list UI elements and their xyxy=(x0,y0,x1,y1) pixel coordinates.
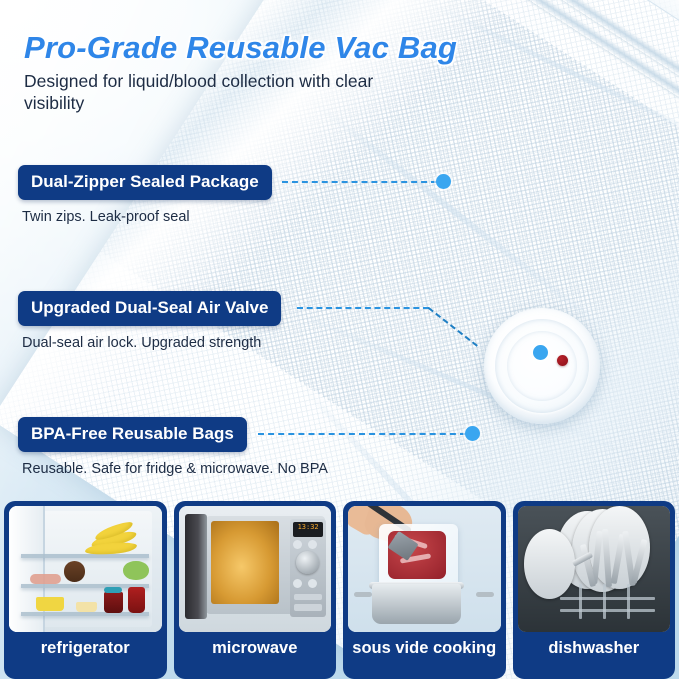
connector-endpoint-dot-1 xyxy=(436,174,451,189)
callout-bpa-free-reusable-bags[interactable]: BPA-Free Reusable Bags Reusable. Safe fo… xyxy=(18,417,328,477)
use-case-label-microwave: microwave xyxy=(212,639,297,658)
use-case-label-dishwasher: dishwasher xyxy=(548,639,639,658)
callout-badge-3: BPA-Free Reusable Bags xyxy=(18,417,247,452)
microwave-photo: 13:32 xyxy=(179,506,332,632)
connector-endpoint-dot-3 xyxy=(465,426,480,441)
use-case-label-sous-vide-cooking: sous vide cooking xyxy=(352,639,496,658)
infographic-canvas: Pro-Grade Reusable Vac Bag Designed for … xyxy=(0,0,679,679)
page-subtitle: Designed for liquid/blood collection wit… xyxy=(24,70,404,115)
use-case-card-sous-vide-cooking[interactable]: sous vide cooking xyxy=(343,501,506,679)
use-case-card-dishwasher[interactable]: dishwasher xyxy=(513,501,676,679)
callout-badge-2: Upgraded Dual-Seal Air Valve xyxy=(18,291,281,326)
use-case-label-refrigerator: refrigerator xyxy=(41,639,130,658)
callout-badge-1: Dual-Zipper Sealed Package xyxy=(18,165,272,200)
callout-description-2: Dual-seal air lock. Upgraded strength xyxy=(22,335,281,351)
valve-ring-inner xyxy=(507,331,577,401)
air-valve xyxy=(484,308,600,424)
callout-description-3: Reusable. Safe for fridge & microwave. N… xyxy=(22,461,328,477)
valve-red-marker-dot xyxy=(557,355,568,366)
microwave-display: 13:32 xyxy=(293,522,324,537)
sous-vide-photo xyxy=(348,506,501,632)
callout-description-1: Twin zips. Leak-proof seal xyxy=(22,209,272,225)
dishwasher-photo xyxy=(518,506,671,632)
connector-endpoint-dot-2 xyxy=(533,345,548,360)
connector-line-1 xyxy=(282,181,437,183)
callout-upgraded-dual-seal-air-valve[interactable]: Upgraded Dual-Seal Air Valve Dual-seal a… xyxy=(18,291,281,351)
use-case-thumbnail-row: refrigerator 13:32 xyxy=(0,501,679,679)
microwave-display-time: 13:32 xyxy=(293,522,324,531)
use-case-card-refrigerator[interactable]: refrigerator xyxy=(4,501,167,679)
connector-line-2a xyxy=(297,307,429,309)
use-case-card-microwave[interactable]: 13:32 microwave xyxy=(174,501,337,679)
callout-dual-zipper-sealed-package[interactable]: Dual-Zipper Sealed Package Twin zips. Le… xyxy=(18,165,272,225)
page-title: Pro-Grade Reusable Vac Bag xyxy=(24,30,457,66)
refrigerator-photo xyxy=(9,506,162,632)
